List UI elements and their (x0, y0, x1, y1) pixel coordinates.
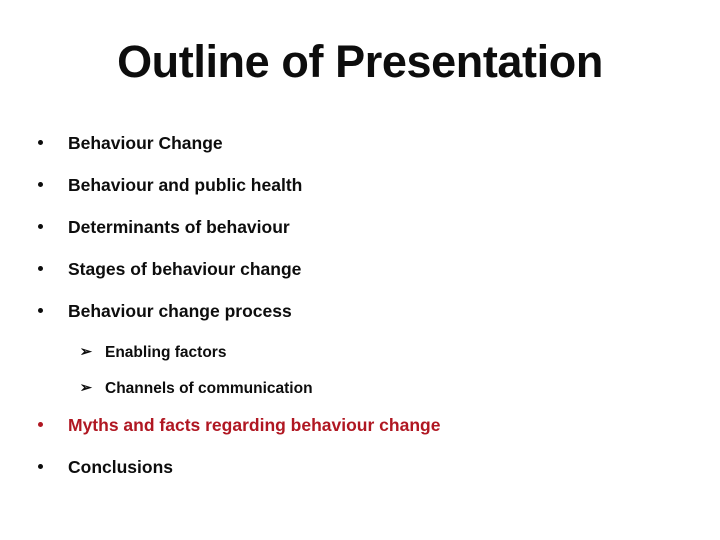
bullet-dot-icon (38, 218, 68, 236)
list-item-label: Behaviour change process (68, 302, 292, 321)
bullet-dot-icon (38, 302, 68, 320)
list-item-label: Behaviour and public health (68, 176, 302, 195)
bullet-dot-icon (38, 134, 68, 152)
list-item: Behaviour Change (0, 134, 720, 176)
list-item: Conclusions (0, 458, 720, 500)
page-title: Outline of Presentation (0, 38, 720, 85)
arrow-right-icon: ➢ (80, 344, 105, 358)
list-item: Determinants of behaviour (0, 218, 720, 260)
bullet-dot-icon (38, 416, 68, 434)
arrow-right-icon: ➢ (80, 380, 105, 394)
sub-list-item: ➢ Enabling factors (0, 344, 720, 380)
list-item: Behaviour and public health (0, 176, 720, 218)
list-item-label: Stages of behaviour change (68, 260, 301, 279)
list-item-label: Behaviour Change (68, 134, 223, 153)
list-item-label: Conclusions (68, 458, 173, 477)
bullet-dot-icon (38, 176, 68, 194)
list-item-highlighted: Myths and facts regarding behaviour chan… (0, 416, 720, 458)
list-item: Behaviour change process (0, 302, 720, 344)
sub-list-item-label: Enabling factors (105, 344, 226, 361)
bullet-dot-icon (38, 458, 68, 476)
list-item: Stages of behaviour change (0, 260, 720, 302)
outline-bullet-list: Behaviour Change Behaviour and public he… (0, 134, 720, 500)
sub-list-item-label: Channels of communication (105, 380, 313, 397)
list-item-label: Determinants of behaviour (68, 218, 290, 237)
list-item-label: Myths and facts regarding behaviour chan… (68, 416, 440, 435)
bullet-dot-icon (38, 260, 68, 278)
presentation-slide: Outline of Presentation Behaviour Change… (0, 0, 720, 540)
sub-list-item: ➢ Channels of communication (0, 380, 720, 416)
